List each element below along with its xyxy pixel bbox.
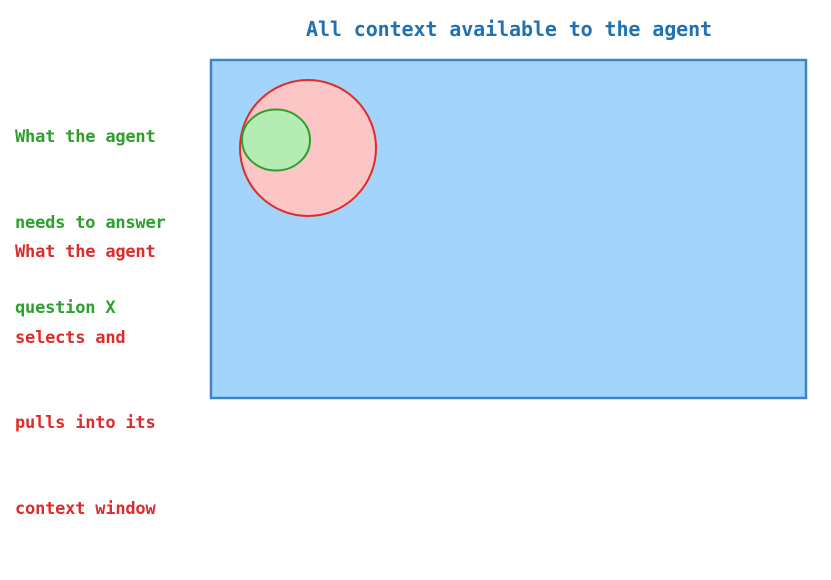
selected-context-label-line-2: selects and [15,324,156,353]
selected-context-label-line-4: context window [15,495,156,524]
selected-context-label-line-3: pulls into its [15,409,156,438]
selected-context-label: What the agent selects and pulls into it… [15,181,156,580]
needed-context-label-line-1: What the agent [15,123,166,152]
diagram-canvas: All context available to the agent What … [0,0,831,422]
needed-context-ellipse [242,110,310,171]
selected-context-label-line-1: What the agent [15,238,156,267]
